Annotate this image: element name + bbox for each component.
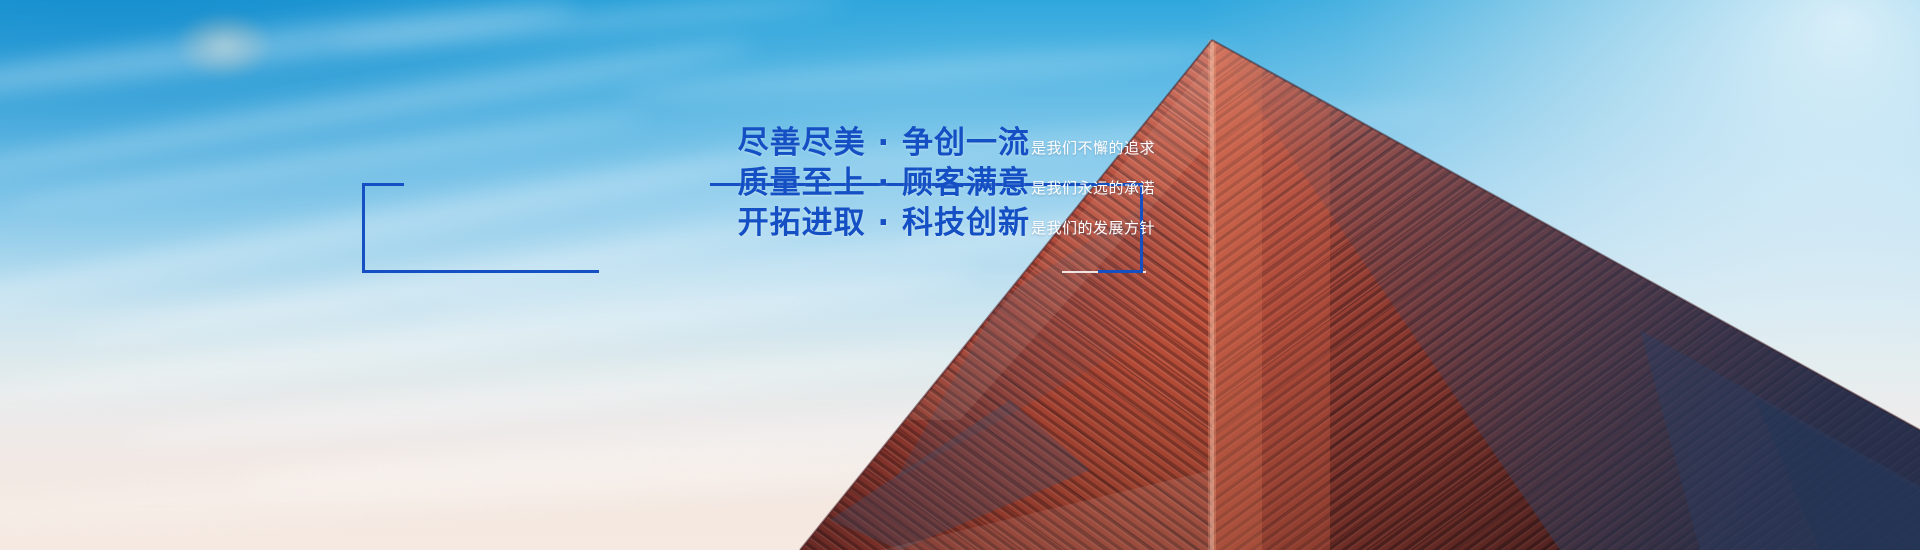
frame-bottom-left-rule bbox=[362, 270, 599, 273]
frame-bottom-right-stub bbox=[1098, 270, 1143, 273]
hero-banner: 尽善尽美 · 争创一流是我们不懈的追求 质量至上 · 顾客满意是我们永远的承诺 … bbox=[0, 0, 1920, 550]
slogan-2-sub: 是我们永远的承诺 bbox=[1031, 179, 1155, 197]
slogan-3-sub: 是我们的发展方针 bbox=[1031, 219, 1155, 237]
slogan-2-main: 质量至上 · 顾客满意 bbox=[738, 165, 1030, 201]
slogan-line-3: 开拓进取 · 科技创新是我们的发展方针 bbox=[300, 208, 1155, 239]
slogan-line-1: 尽善尽美 · 争创一流是我们不懈的追求 bbox=[300, 128, 1155, 159]
lens-flare-icon bbox=[178, 14, 270, 76]
slogan-1-sub: 是我们不懈的追求 bbox=[1031, 139, 1155, 157]
sky-right-white-haze bbox=[0, 0, 1920, 550]
slogan-3-main: 开拓进取 · 科技创新 bbox=[738, 205, 1030, 241]
slogan-line-2: 质量至上 · 顾客满意是我们永远的承诺 bbox=[300, 168, 1155, 199]
slogan-group: 尽善尽美 · 争创一流是我们不懈的追求 质量至上 · 顾客满意是我们永远的承诺 … bbox=[300, 128, 1155, 239]
slogan-1-main: 尽善尽美 · 争创一流 bbox=[738, 125, 1030, 161]
